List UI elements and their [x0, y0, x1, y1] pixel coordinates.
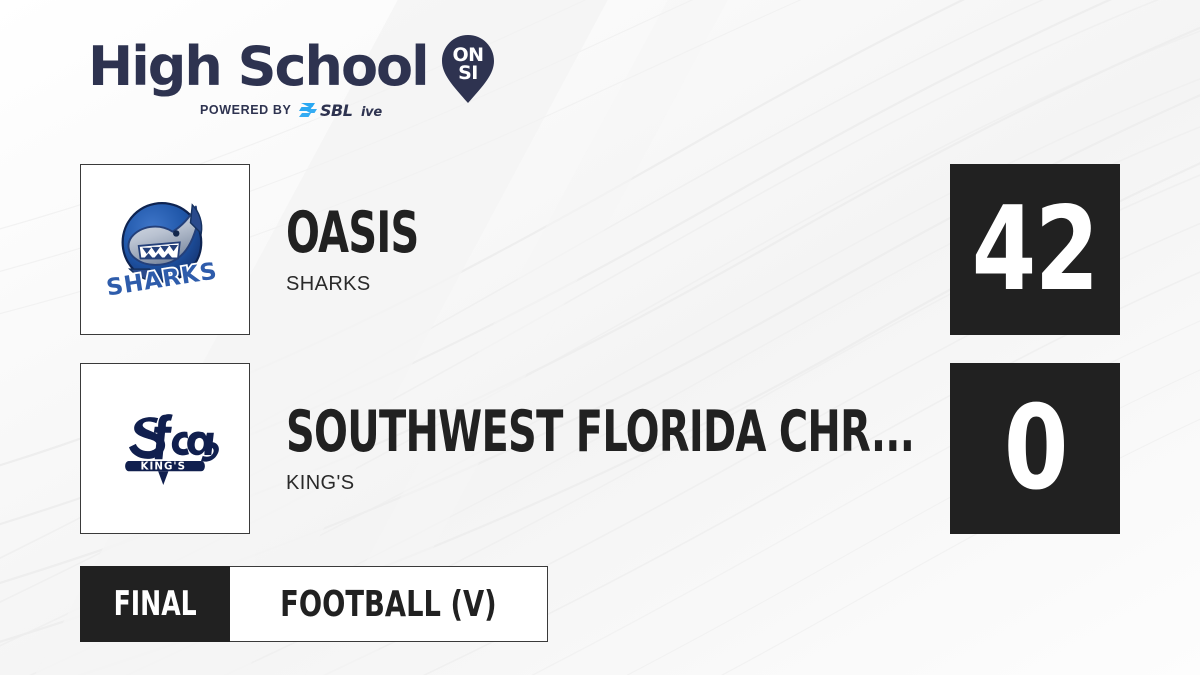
- team-score: 0: [1004, 391, 1067, 507]
- scoreboard-graphic: High School ON SI POWERED BY SBL ive: [0, 0, 1200, 675]
- score-box: 0: [950, 363, 1120, 534]
- score-box: 42: [950, 164, 1120, 335]
- svg-text:KING'S: KING'S: [141, 460, 187, 472]
- team-mascot: SHARKS: [286, 273, 946, 296]
- sblive-logo-icon: SBL ive: [299, 100, 393, 120]
- team-text-block: OASIS SHARKS: [286, 164, 946, 335]
- team-score: 42: [972, 192, 1098, 308]
- team-name: OASIS: [286, 203, 748, 263]
- team-row: SHARKS OASIS SHARKS 42: [80, 164, 1120, 336]
- on-si-pin-icon: ON SI: [440, 33, 496, 105]
- team-text-block: SOUTHWEST FLORIDA CHR... KING'S: [286, 363, 946, 534]
- status-state-label: FINAL: [113, 584, 196, 624]
- sport-label: FOOTBALL (V): [280, 584, 496, 625]
- team-name: SOUTHWEST FLORIDA CHR...: [286, 402, 748, 462]
- powered-by-label: POWERED BY: [200, 103, 291, 117]
- team-mascot: KING'S: [286, 472, 946, 495]
- svg-text:ive: ive: [361, 105, 382, 120]
- sfca-kings-logo-icon: KING'S: [80, 363, 250, 534]
- team-row: KING'S SOUTHWEST FLORIDA CHR... KING'S 0: [80, 363, 1120, 535]
- brand-title-row: High School ON SI: [88, 36, 508, 98]
- oasis-sharks-logo-icon: SHARKS: [80, 164, 250, 335]
- brand-header: High School ON SI POWERED BY SBL ive: [88, 36, 508, 136]
- svg-text:SI: SI: [458, 62, 478, 84]
- page-title: High School: [88, 39, 428, 95]
- status-badge: FINAL: [80, 566, 230, 642]
- sport-label-box: FOOTBALL (V): [230, 566, 548, 642]
- svg-text:SBL: SBL: [320, 101, 353, 120]
- game-status-bar: FINAL FOOTBALL (V): [80, 566, 548, 642]
